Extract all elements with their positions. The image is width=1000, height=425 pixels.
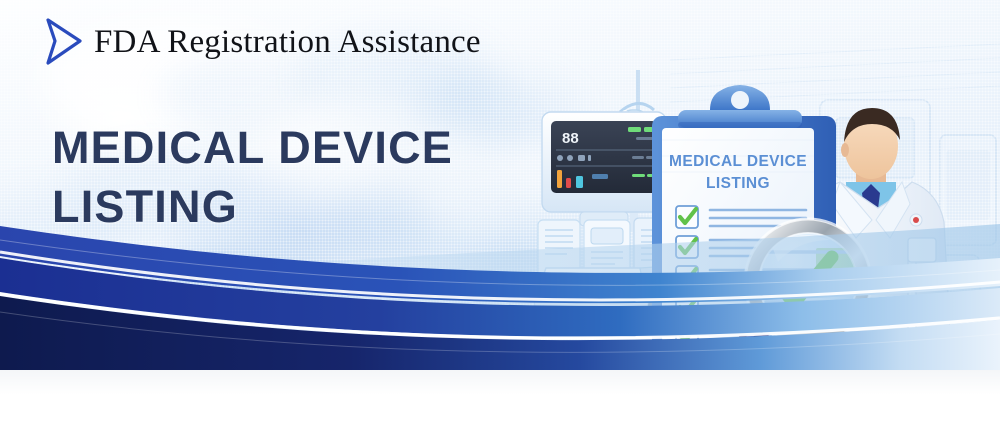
page-title-line1: MEDICAL DEVICE [52, 122, 453, 173]
hero-background: 88 [0, 0, 1000, 370]
chevron-arrow-icon [40, 16, 84, 68]
logo[interactable]: FDA Registration Assistance [40, 16, 481, 68]
fda-registration-banner: 88 [0, 0, 1000, 425]
page-title: MEDICAL DEVICE LISTING [52, 118, 453, 237]
page-title-line2: LISTING [52, 177, 453, 236]
logo-text: FDA Registration Assistance [94, 26, 481, 59]
footer-strip [0, 370, 1000, 425]
